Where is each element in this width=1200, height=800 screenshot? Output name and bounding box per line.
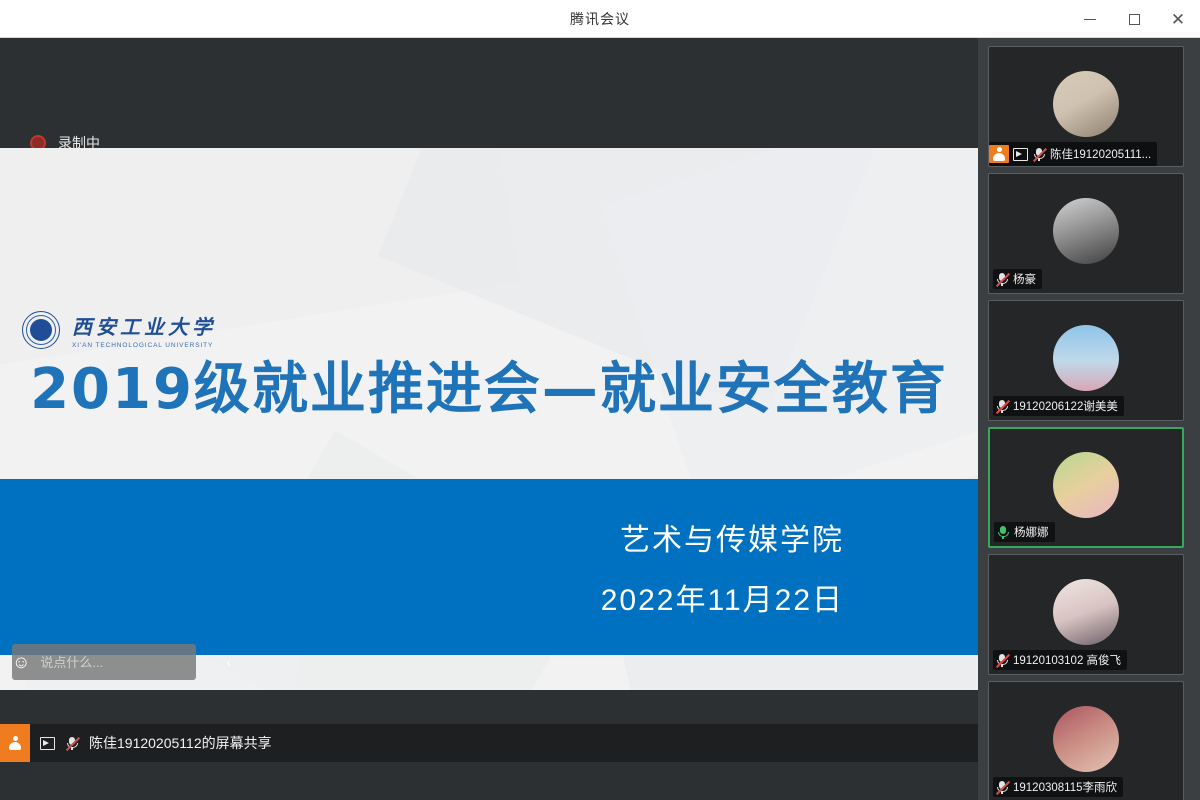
participant-tile[interactable]: 陈佳19120205111... xyxy=(988,46,1184,167)
participant-name-bar: 19120206122谢美美 xyxy=(993,396,1124,416)
avatar xyxy=(1053,325,1119,391)
logo-name-cn: 西安工业大学 xyxy=(72,311,216,340)
avatar xyxy=(1053,579,1119,645)
slide-blue-band: 艺术与传媒学院 2022年11月22日 xyxy=(0,479,978,655)
avatar xyxy=(1053,71,1119,137)
mic-muted-icon xyxy=(995,653,1009,668)
participant-name: 杨豪 xyxy=(1013,271,1036,287)
participant-tile[interactable]: 19120308115李雨欣 xyxy=(988,681,1184,800)
mic-muted-icon xyxy=(995,272,1009,287)
participant-name-bar: 杨豪 xyxy=(993,269,1042,289)
mic-muted-icon xyxy=(995,399,1009,414)
host-badge-icon xyxy=(989,145,1009,163)
slide-subtitle-department: 艺术与传媒学院 xyxy=(620,515,844,559)
person-icon xyxy=(9,736,22,750)
shared-screen-stage: 录制中 西安工业大学 XI'AN TECHNOLOGICAL UNIVERSIT… xyxy=(0,38,978,762)
participant-tile[interactable]: 杨豪 xyxy=(988,173,1184,294)
close-icon: ✕ xyxy=(1171,11,1185,28)
share-status-text: 陈佳19120205112的屏幕共享 xyxy=(89,733,272,753)
participant-tile[interactable]: 19120206122谢美美 xyxy=(988,300,1184,421)
mic-muted-icon xyxy=(1032,147,1046,162)
minimize-icon xyxy=(1084,19,1096,20)
maximize-button[interactable] xyxy=(1112,0,1156,38)
participant-name-bar: 陈佳19120205111... xyxy=(989,142,1157,166)
avatar xyxy=(1053,198,1119,264)
screen-share-icon xyxy=(40,737,55,750)
slide-subtitle-date: 2022年11月22日 xyxy=(601,575,844,619)
chat-input[interactable] xyxy=(30,644,226,680)
slide-title: 2019级就业推进会—就业安全教育 xyxy=(0,344,978,425)
chat-input-bar[interactable]: ☺ ‹ xyxy=(12,644,196,680)
mic-muted-icon xyxy=(65,736,79,751)
participant-name-bar: 杨娜娜 xyxy=(994,522,1055,542)
maximize-icon xyxy=(1129,14,1140,25)
participant-name-bar: 19120308115李雨欣 xyxy=(993,777,1123,797)
title-bar: 腾讯会议 ✕ xyxy=(0,0,1200,38)
mic-muted-icon xyxy=(995,780,1009,795)
screen-share-icon xyxy=(1013,148,1028,161)
avatar xyxy=(1053,452,1119,518)
status-icons xyxy=(30,736,89,751)
participant-name: 19120103102 高俊飞 xyxy=(1013,652,1121,668)
participant-name: 杨娜娜 xyxy=(1014,524,1049,540)
participant-name: 陈佳19120205111... xyxy=(1050,146,1151,162)
participant-name: 19120308115李雨欣 xyxy=(1013,779,1117,795)
participant-rail[interactable]: 陈佳19120205111... 杨豪 19120206122谢美美 xyxy=(978,38,1200,800)
smiley-icon[interactable]: ☺ xyxy=(12,644,30,680)
close-button[interactable]: ✕ xyxy=(1156,0,1200,38)
window-controls: ✕ xyxy=(1068,0,1200,38)
window-title: 腾讯会议 xyxy=(570,9,630,29)
minimize-button[interactable] xyxy=(1068,0,1112,38)
participant-tile[interactable]: 19120103102 高俊飞 xyxy=(988,554,1184,675)
mic-icon xyxy=(996,525,1010,540)
host-badge xyxy=(0,724,30,762)
avatar xyxy=(1053,706,1119,772)
presentation-slide: 西安工业大学 XI'AN TECHNOLOGICAL UNIVERSITY 20… xyxy=(0,148,978,690)
participant-name: 19120206122谢美美 xyxy=(1013,398,1118,414)
recording-bar: 录制中 xyxy=(0,38,978,148)
participant-name-bar: 19120103102 高俊飞 xyxy=(993,650,1127,670)
participant-tile-active-speaker[interactable]: 杨娜娜 xyxy=(988,427,1184,548)
tencent-meeting-window: 腾讯会议 ✕ 录制中 xyxy=(0,0,1200,800)
share-status-bar: 陈佳19120205112的屏幕共享 xyxy=(0,724,978,762)
chevron-left-icon[interactable]: ‹ xyxy=(226,644,231,680)
